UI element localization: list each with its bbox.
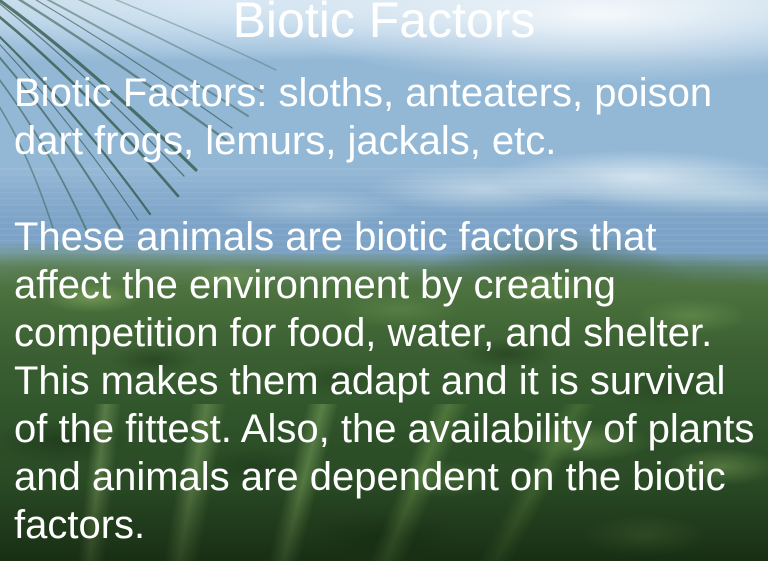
body-line: dart frogs, lemurs, jackals, etc. <box>14 117 768 165</box>
body-line: affect the environment by creating <box>14 261 768 309</box>
slide-body-text: Biotic Factors: sloths, anteaters, poiso… <box>14 69 768 549</box>
presentation-slide: Biotic Factors Biotic Factors: sloths, a… <box>0 0 768 561</box>
body-line: factors. <box>14 501 768 549</box>
slide-text-layer: Biotic Factors Biotic Factors: sloths, a… <box>0 0 768 561</box>
body-line: These animals are biotic factors that <box>14 213 768 261</box>
slide-title: Biotic Factors <box>0 0 768 51</box>
body-line: Biotic Factors: sloths, anteaters, poiso… <box>14 69 768 117</box>
body-line-blank <box>14 165 768 213</box>
body-line: This makes them adapt and it is survival <box>14 357 768 405</box>
body-line: and animals are dependent on the biotic <box>14 453 768 501</box>
body-line: competition for food, water, and shelter… <box>14 309 768 357</box>
body-line: of the fittest. Also, the availability o… <box>14 405 768 453</box>
